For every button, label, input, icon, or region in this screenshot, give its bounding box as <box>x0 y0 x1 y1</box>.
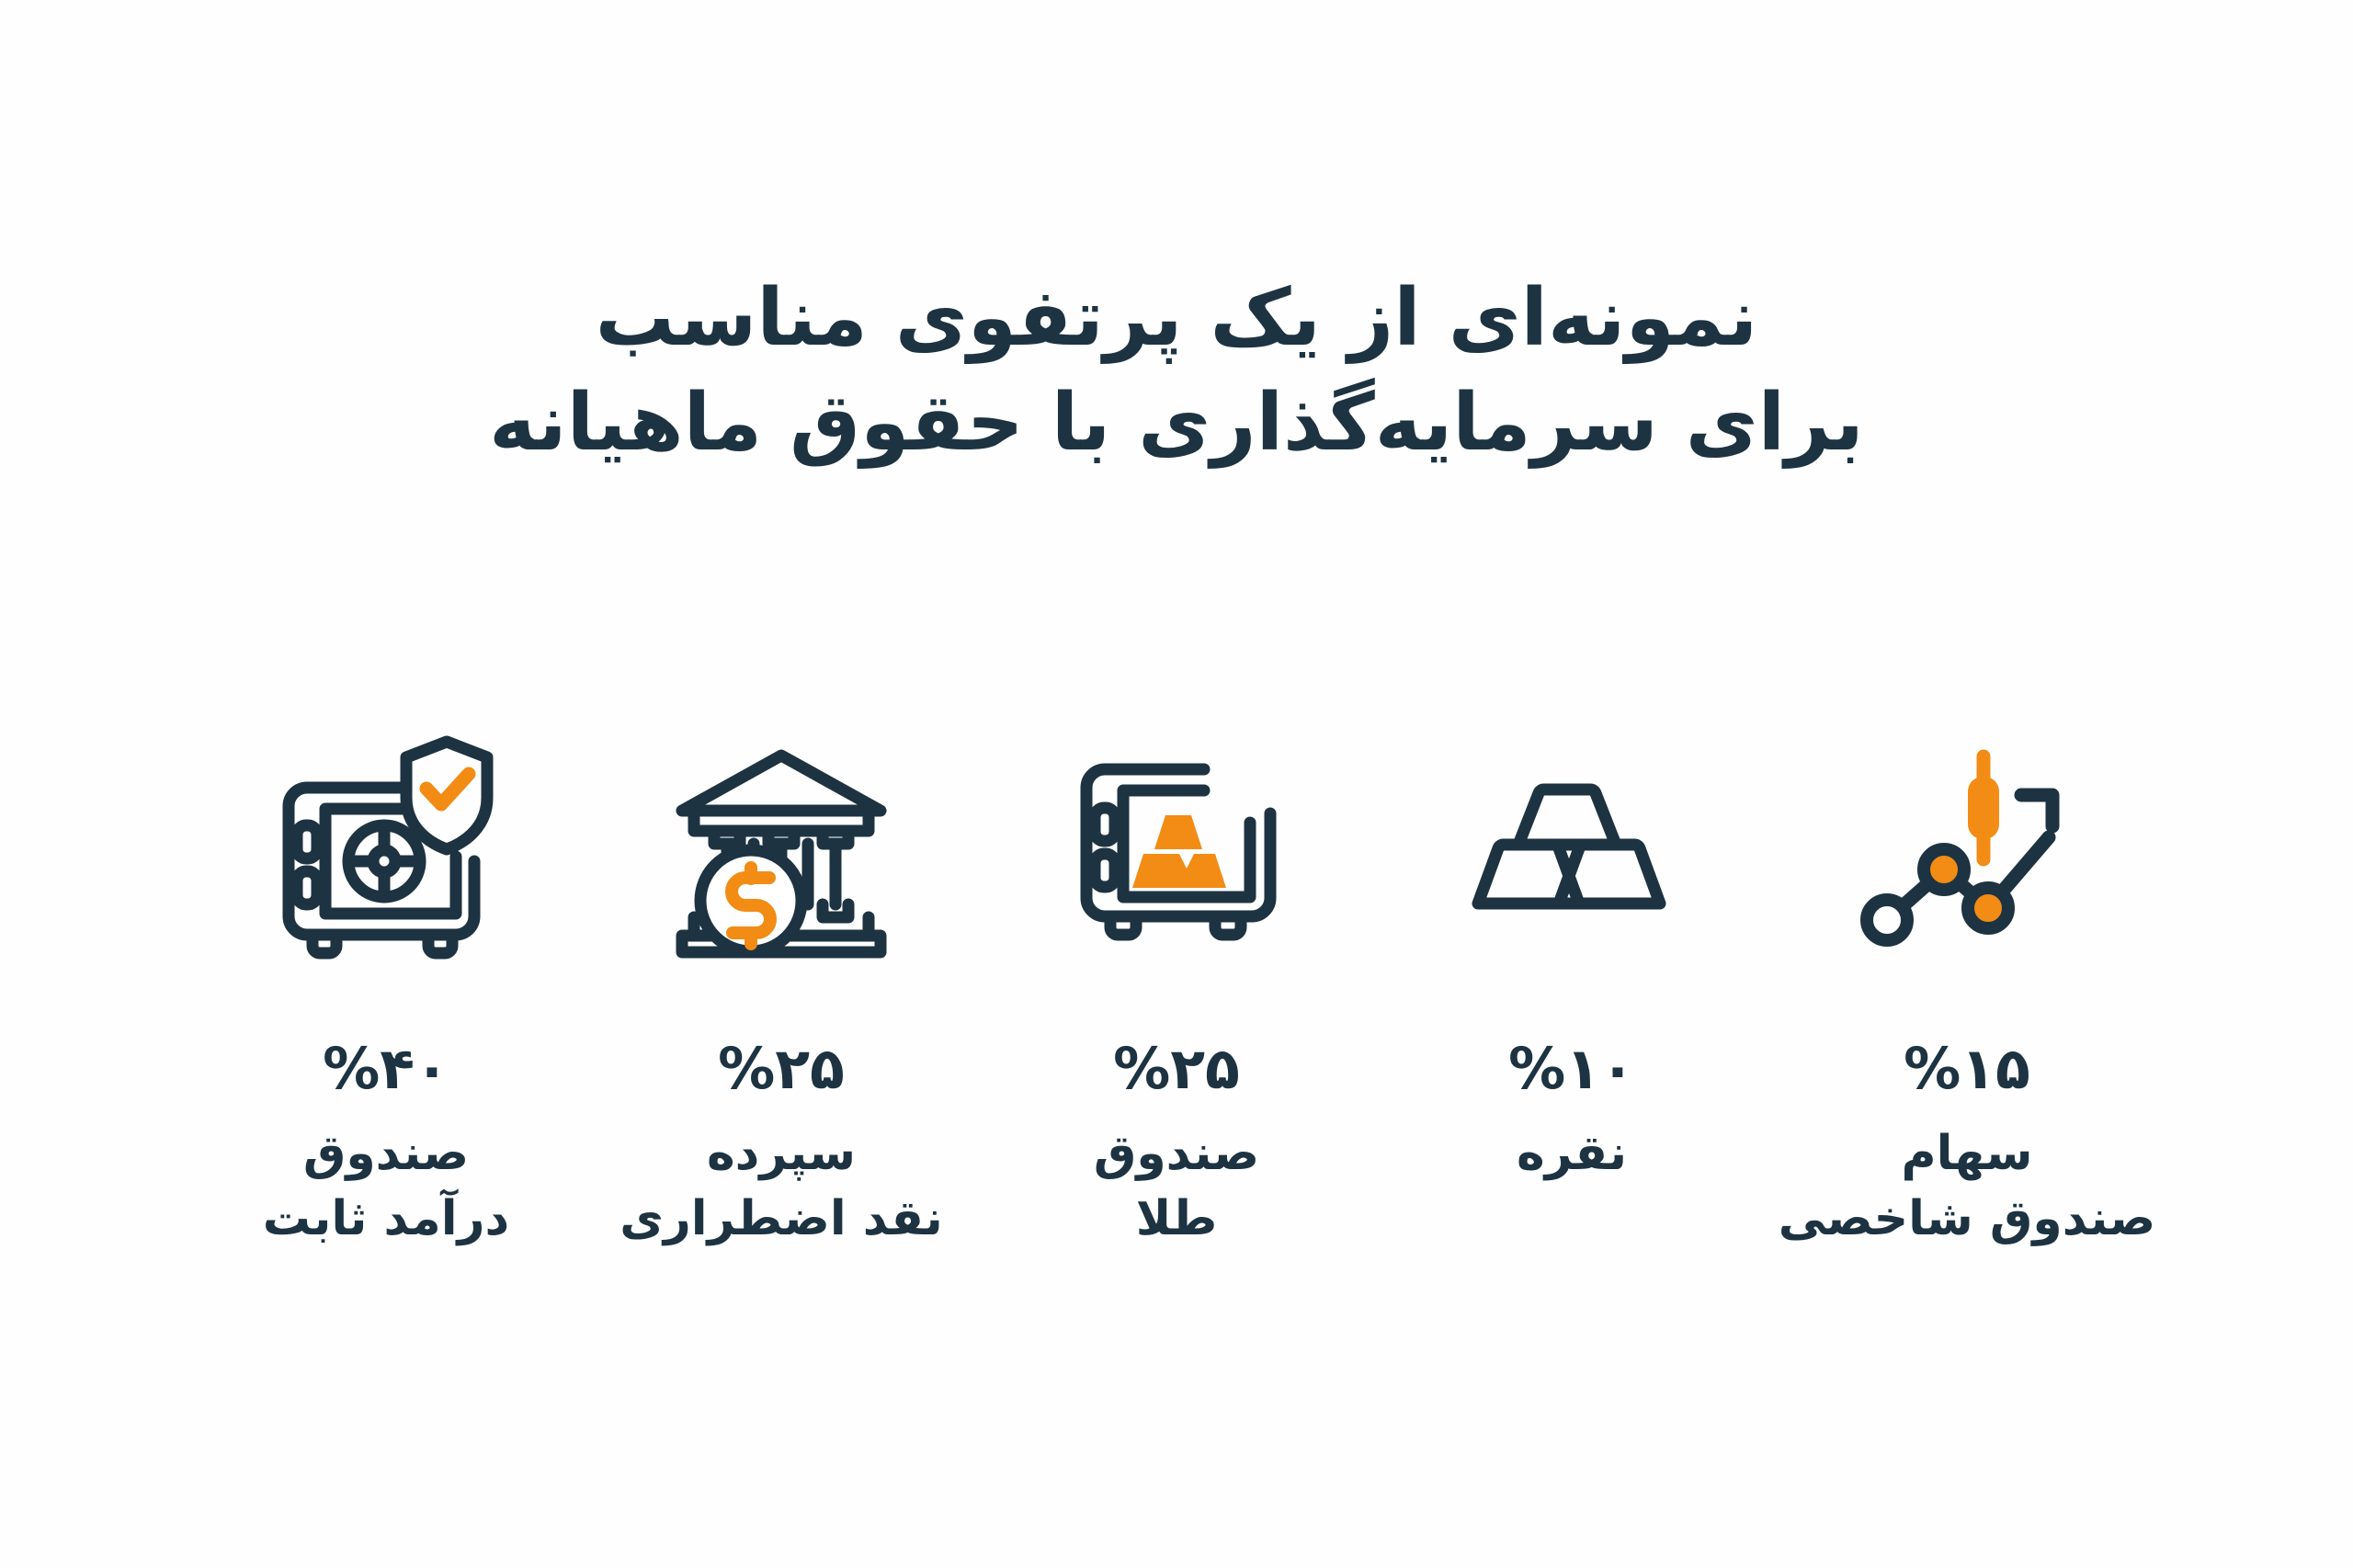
allocation-label: نقره <box>1517 1121 1627 1187</box>
allocation-label: سپرده نقد اضطراری <box>620 1121 943 1251</box>
portfolio-allocation-row: %۴۰ صندوق درآمد ثابت <box>0 717 2353 1251</box>
safe-shield-check-icon <box>267 717 506 983</box>
allocation-percent: %۱۰ <box>1508 1040 1635 1097</box>
page-title-line-1: نمونه‌ای از یک پرتفوی مناسب <box>303 267 2050 371</box>
page-title: نمونه‌ای از یک پرتفوی مناسب برای سرمایه‌… <box>303 267 2050 475</box>
safe-gold-bars-icon <box>1066 717 1287 983</box>
infographic-canvas: نمونه‌ای از یک پرتفوی مناسب برای سرمایه‌… <box>0 0 2353 1568</box>
allocation-item-silver: %۱۰ نقره <box>1374 717 1769 1187</box>
allocation-percent: %۲۵ <box>1113 1040 1240 1097</box>
allocation-label: صندوق طلا <box>1094 1121 1259 1251</box>
page-title-line-2: برای سرمایه‌گذاری با حقوق ماهیانه <box>303 371 2050 476</box>
allocation-label: سهام صندوق شاخصی <box>1779 1121 2155 1251</box>
silver-bars-icon <box>1471 717 1673 983</box>
bank-dollar-coin-icon <box>666 717 896 983</box>
allocation-percent: %۲۵ <box>718 1040 845 1097</box>
allocation-item-emergency-cash-deposit: %۲۵ سپرده نقد اضطراری <box>584 717 979 1251</box>
allocation-percent: %۴۰ <box>323 1040 449 1097</box>
stock-chart-candle-icon <box>1852 717 2082 983</box>
allocation-item-fixed-income-fund: %۴۰ صندوق درآمد ثابت <box>188 717 584 1251</box>
allocation-label: صندوق درآمد ثابت <box>263 1121 509 1251</box>
allocation-item-gold-fund: %۲۵ صندوق طلا <box>979 717 1374 1251</box>
allocation-percent: %۱۵ <box>1904 1040 2030 1097</box>
allocation-item-index-fund-stocks: %۱۵ سهام صندوق شاخصی <box>1769 717 2165 1251</box>
